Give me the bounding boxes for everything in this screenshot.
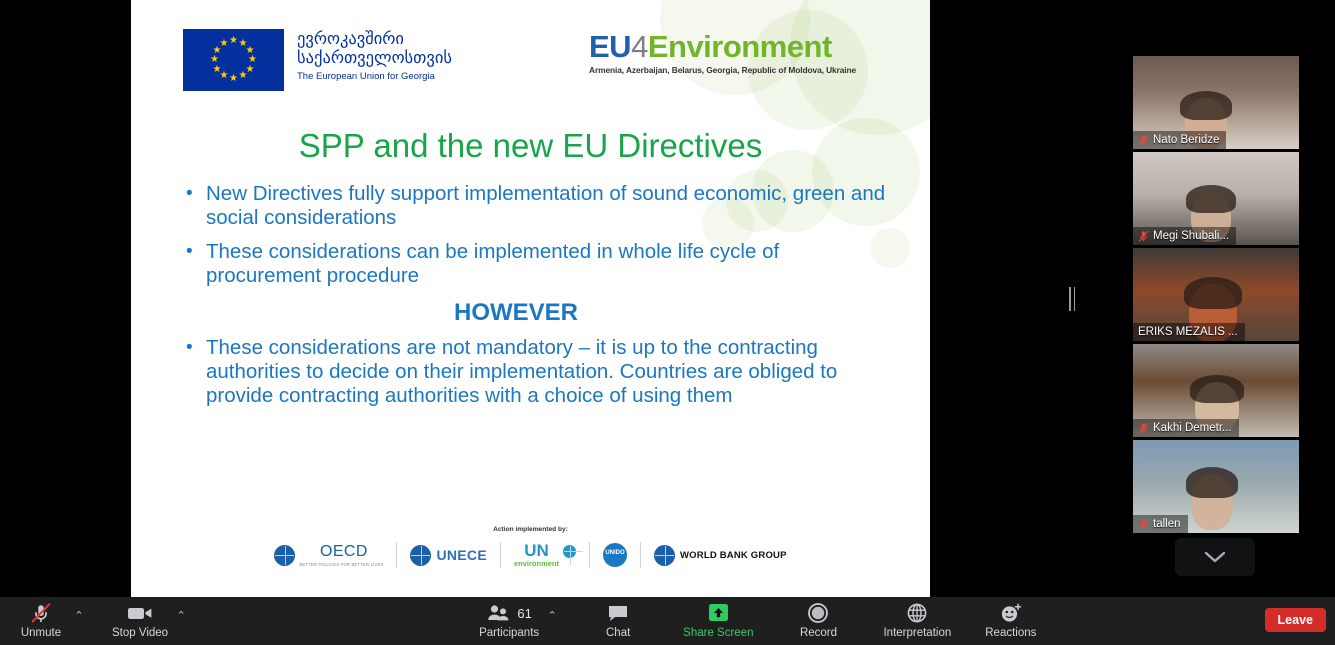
record-label: Record	[800, 627, 837, 640]
participant-name: tallen	[1153, 518, 1181, 531]
eu-star-icon: ★	[210, 55, 220, 65]
zoom-meeting-window: ★★★★★★★★★★★★ ევროკავშირი საქართველოსთვის…	[0, 0, 1335, 645]
world-bank-logo: WORLD BANK GROUP	[641, 540, 800, 570]
unmute-button[interactable]: Unmute	[10, 597, 72, 645]
globe-icon	[410, 545, 431, 566]
participant-hair	[1184, 277, 1242, 309]
interpretation-button[interactable]: Interpretation	[877, 597, 957, 645]
eu4env-four: 4	[631, 29, 648, 64]
slide-bullet: • New Directives fully support implement…	[186, 182, 886, 230]
eu-star-icon: ★	[212, 65, 222, 75]
eu-star-icon: ★	[229, 36, 239, 46]
shared-screen-area[interactable]: ★★★★★★★★★★★★ ევროკავშირი საქართველოსთვის…	[0, 0, 1063, 597]
microphone-muted-icon	[1138, 230, 1149, 243]
meeting-toolbar: Unmute ⌃ Stop Video ⌃	[0, 597, 1335, 645]
un-logo-text: UN	[514, 543, 559, 559]
oecd-logo-text: OECD	[304, 543, 383, 561]
share-screen-label: Share Screen	[683, 627, 753, 640]
globe-icon: UNIDO	[603, 543, 627, 567]
slide-footer: Action implemented by: OECD BETTER POLIC…	[131, 526, 930, 570]
microphone-muted-icon	[29, 602, 53, 624]
participant-name: Kakhi Demetr...	[1153, 422, 1232, 435]
chat-button[interactable]: Chat	[587, 597, 649, 645]
presentation-slide: ★★★★★★★★★★★★ ევროკავშირი საქართველოსთვის…	[131, 0, 930, 597]
slide-however-heading: HOWEVER	[186, 298, 886, 328]
eu-logo-georgian-line1: ევროკავშირი	[297, 30, 452, 49]
handle-line	[1074, 287, 1076, 311]
share-screen-button[interactable]: Share Screen	[677, 597, 759, 645]
participant-name: Megi Shubali...	[1153, 230, 1229, 243]
participant-name: Nato Beridze	[1153, 134, 1219, 147]
leave-meeting-button[interactable]: Leave	[1265, 608, 1326, 632]
microphone-muted-icon	[1138, 422, 1149, 435]
participants-options-caret[interactable]: ⌃	[545, 597, 559, 645]
participant-nameplate: Nato Beridze	[1133, 131, 1226, 149]
eu4env-environment: Environment	[648, 29, 832, 64]
participant-nameplate: Kakhi Demetr...	[1133, 419, 1239, 437]
bullet-marker-icon: •	[186, 182, 206, 230]
slide-bullet-text: These considerations can be implemented …	[206, 240, 886, 288]
stop-video-label: Stop Video	[112, 627, 168, 640]
participant-hair	[1186, 185, 1236, 213]
audio-options-caret[interactable]: ⌃	[72, 597, 86, 645]
participant-hair	[1186, 467, 1238, 498]
eu4env-countries: Armenia, Azerbaijan, Belarus, Georgia, R…	[589, 65, 856, 75]
record-icon	[807, 602, 829, 624]
slide-bullet-text: These considerations are not mandatory –…	[206, 336, 886, 408]
unmute-label: Unmute	[21, 627, 61, 640]
stop-video-button[interactable]: Stop Video	[106, 597, 174, 645]
reactions-smiley-icon	[999, 602, 1023, 624]
participant-thumbnail[interactable]: tallen	[1133, 440, 1299, 533]
eu-star-icon: ★	[238, 71, 248, 81]
slide-header: ★★★★★★★★★★★★ ევროკავშირი საქართველოსთვის…	[131, 0, 930, 110]
participants-count: 61	[517, 606, 531, 621]
eu4environment-logo: EU4Environment Armenia, Azerbaijan, Bela…	[589, 30, 856, 75]
reactions-button[interactable]: Reactions	[979, 597, 1042, 645]
unido-logo-text: UNIDO	[603, 550, 627, 556]
action-implemented-by-label: Action implemented by:	[131, 526, 930, 533]
chat-bubble-icon	[607, 602, 629, 624]
participant-thumbnail[interactable]: Megi Shubali...	[1133, 152, 1299, 245]
slide-title: SPP and the new EU Directives	[131, 126, 930, 166]
microphone-muted-icon	[1138, 134, 1149, 147]
participant-name: ERIKS MEZALIS ...	[1138, 326, 1238, 339]
participant-hair	[1190, 375, 1244, 403]
participants-label: Participants	[479, 627, 539, 640]
eu-star-icon: ★	[229, 74, 239, 84]
participants-button[interactable]: 61 Participants	[473, 597, 545, 645]
eu-logo-georgian-line2: საქართველოსთვის	[297, 49, 452, 68]
participant-thumbnail[interactable]: ERIKS MEZALIS ...	[1133, 248, 1299, 341]
participant-nameplate: tallen	[1133, 515, 1188, 533]
video-camera-icon	[126, 602, 154, 624]
unece-logo-text: UNECE	[436, 547, 487, 563]
slide-bullet: • These considerations can be implemente…	[186, 240, 886, 288]
record-button[interactable]: Record	[787, 597, 849, 645]
european-union-logo: ★★★★★★★★★★★★ ევროკავშირი საქართველოსთვის…	[183, 29, 452, 91]
globe-icon	[906, 602, 928, 624]
oecd-logo: OECD BETTER POLICIES FOR BETTER LIVES	[261, 540, 396, 570]
handle-line	[1069, 287, 1071, 311]
microphone-muted-icon	[1138, 518, 1149, 531]
participants-icon: 61	[486, 602, 531, 624]
participant-thumbnail[interactable]: Nato Beridze	[1133, 56, 1299, 149]
panel-resize-handle[interactable]	[1068, 287, 1076, 311]
un-environment-tagline: environment	[514, 559, 559, 568]
chevron-down-icon	[1204, 551, 1226, 563]
oecd-logo-tagline: BETTER POLICIES FOR BETTER LIVES	[299, 562, 383, 567]
video-options-caret[interactable]: ⌃	[174, 597, 188, 645]
eu-star-icon: ★	[219, 39, 229, 49]
slide-body: • New Directives fully support implement…	[186, 182, 886, 418]
participant-nameplate: ERIKS MEZALIS ...	[1133, 323, 1245, 341]
eu4env-eu: EU	[589, 29, 631, 64]
interpretation-label: Interpretation	[883, 627, 951, 640]
eu-flag-icon: ★★★★★★★★★★★★	[183, 29, 284, 91]
participant-thumbnail-strip: Nato BeridzeMegi Shubali...ERIKS MEZALIS…	[1081, 0, 1335, 597]
un-environment-logo: UN environment	[501, 540, 589, 570]
reactions-label: Reactions	[985, 627, 1036, 640]
bullet-marker-icon: •	[186, 336, 206, 408]
slide-bullet: • These considerations are not mandatory…	[186, 336, 886, 408]
slide-bullet-text: New Directives fully support implementat…	[206, 182, 886, 230]
participant-thumbnail[interactable]: Kakhi Demetr...	[1133, 344, 1299, 437]
globe-icon	[274, 545, 295, 566]
unece-logo: UNECE	[397, 540, 500, 570]
unido-logo: UNIDO	[590, 540, 640, 570]
globe-icon	[563, 545, 576, 558]
thumbnail-scroll-down-button[interactable]	[1175, 538, 1255, 576]
eu-logo-english: The European Union for Georgia	[297, 71, 452, 83]
bullet-marker-icon: •	[186, 240, 206, 288]
world-bank-logo-text: WORLD BANK GROUP	[680, 550, 787, 561]
share-screen-icon	[706, 602, 731, 624]
globe-icon	[654, 545, 675, 566]
chat-label: Chat	[606, 627, 630, 640]
participant-nameplate: Megi Shubali...	[1133, 227, 1236, 245]
participant-hair	[1180, 91, 1232, 120]
